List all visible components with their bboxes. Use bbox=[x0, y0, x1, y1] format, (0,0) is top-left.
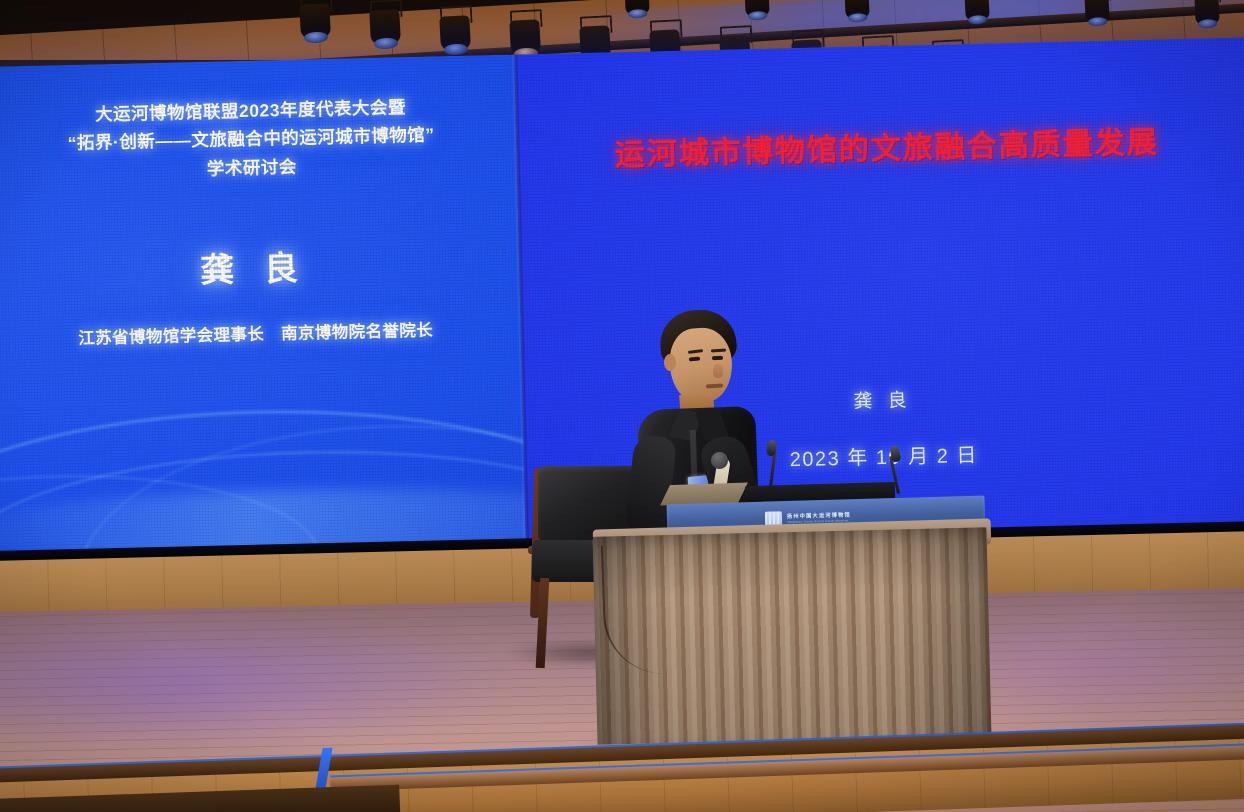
speaker-eye bbox=[712, 356, 723, 361]
stage-floor-purple-light bbox=[0, 610, 520, 760]
stage-light-icon bbox=[622, 0, 651, 20]
stage-light-icon bbox=[1192, 0, 1221, 30]
speaker-ear bbox=[664, 354, 676, 371]
left-screen-speaker-name: 龚 良 bbox=[0, 236, 520, 297]
presentation-title: 运河城市博物馆的文旅融合高质量发展 bbox=[586, 117, 1187, 175]
stage-scene-photo: 大运河博物馆联盟2023年度代表大会暨 “拓界·创新——文旅融合中的运河城市博物… bbox=[0, 0, 1244, 812]
stage-light-icon bbox=[297, 0, 334, 45]
stage-light-icon bbox=[962, 0, 991, 26]
podium-desk: 扬州中国大运河博物馆 Yangzhou China Grand Canal Mu… bbox=[575, 500, 995, 760]
stage-light-icon bbox=[1082, 0, 1111, 28]
left-led-screen: 大运河博物馆联盟2023年度代表大会暨 “拓界·创新——文旅融合中的运河城市博物… bbox=[0, 55, 526, 559]
stage-light-icon bbox=[437, 5, 474, 57]
speaker-nose bbox=[713, 364, 723, 378]
left-screen-text-block: 大运河博物馆联盟2023年度代表大会暨 “拓界·创新——文旅融合中的运河城市博物… bbox=[0, 91, 521, 351]
stage-light-icon bbox=[742, 0, 771, 22]
left-screen-speaker-affiliation: 江苏省博物馆学会理事长 南京博物院名誉院长 bbox=[0, 315, 521, 351]
stage-light-icon bbox=[367, 0, 404, 51]
stage-light-icon bbox=[842, 0, 871, 24]
